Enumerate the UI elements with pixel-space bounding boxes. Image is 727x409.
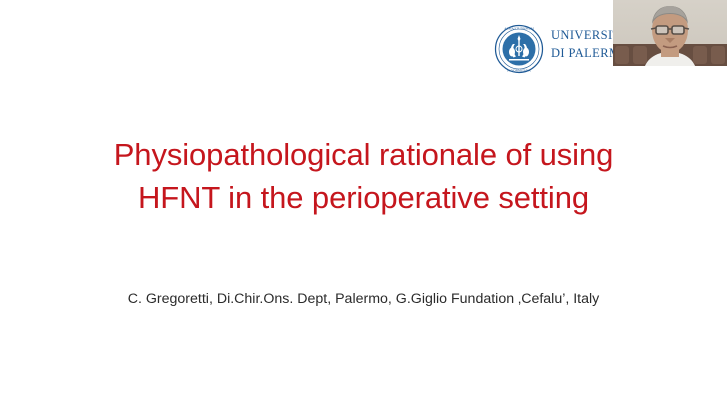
university-seal-icon: ALMA STUDIORUM PANORMITANA xyxy=(494,24,544,74)
svg-text:PANORMITANA: PANORMITANA xyxy=(507,69,531,73)
svg-text:ALMA STUDIORUM: ALMA STUDIORUM xyxy=(504,27,534,31)
author-affiliation: C. Gregoretti, Di.Chir.Ons. Dept, Palerm… xyxy=(0,289,727,309)
speaker-video-thumbnail[interactable] xyxy=(613,0,727,73)
presentation-slide: ALMA STUDIORUM PANORMITANA UNIVERSITÀ DE… xyxy=(0,0,727,409)
title-line-2: HFNT in the perioperative setting xyxy=(0,176,727,219)
title-line-1: Physiopathological rationale of using xyxy=(0,133,727,176)
page-title: Physiopathological rationale of using HF… xyxy=(0,133,727,219)
